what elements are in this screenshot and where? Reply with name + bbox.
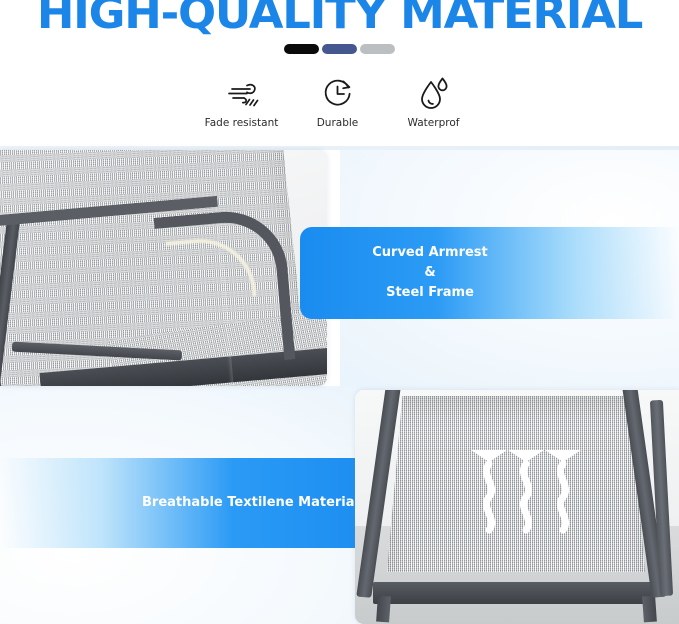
- photo-chair-armrest-closeup: [0, 150, 327, 386]
- callout-line-1: Curved Armrest: [350, 243, 510, 263]
- callout-line-3: Steel Frame: [350, 283, 510, 303]
- color-swatch-navy-blue[interactable]: [322, 44, 357, 54]
- callout-text-block: Curved Armrest & Steel Frame: [350, 243, 510, 303]
- feature-label-waterproof: Waterprof: [408, 117, 460, 129]
- feature-durable: Durable: [292, 74, 384, 129]
- header-section: HIGH-QUALITY MATERIAL Fade resistant: [0, 0, 679, 146]
- feature-waterproof: Waterprof: [388, 74, 480, 129]
- wind-fade-icon: [220, 74, 264, 114]
- callout-line-1: Breathable Textilene Material: [142, 493, 359, 513]
- color-swatch-bar: [0, 44, 679, 54]
- clock-refresh-icon: [320, 74, 356, 114]
- photo-chair-seat-airflow: [355, 390, 679, 624]
- callout-line-2: &: [350, 263, 510, 283]
- feature-fade-resistant: Fade resistant: [196, 74, 288, 129]
- airflow-arrows-group: [355, 390, 679, 624]
- page-title: HIGH-QUALITY MATERIAL: [0, 0, 679, 36]
- callout-curved-armrest-steel-frame: Curved Armrest & Steel Frame: [300, 227, 679, 319]
- color-swatch-light-gray[interactable]: [360, 44, 395, 54]
- water-droplet-icon: [417, 74, 451, 114]
- callout-text-block: Breathable Textilene Material: [142, 493, 359, 513]
- feature-icon-row: Fade resistant Durable Wa: [0, 74, 679, 129]
- feature-label-durable: Durable: [317, 117, 359, 129]
- feature-label-fade-resistant: Fade resistant: [205, 117, 279, 129]
- color-swatch-black[interactable]: [284, 44, 319, 54]
- callout-breathable-textilene-material: Breathable Textilene Material: [0, 458, 389, 548]
- airflow-arrow-heads: [471, 450, 581, 462]
